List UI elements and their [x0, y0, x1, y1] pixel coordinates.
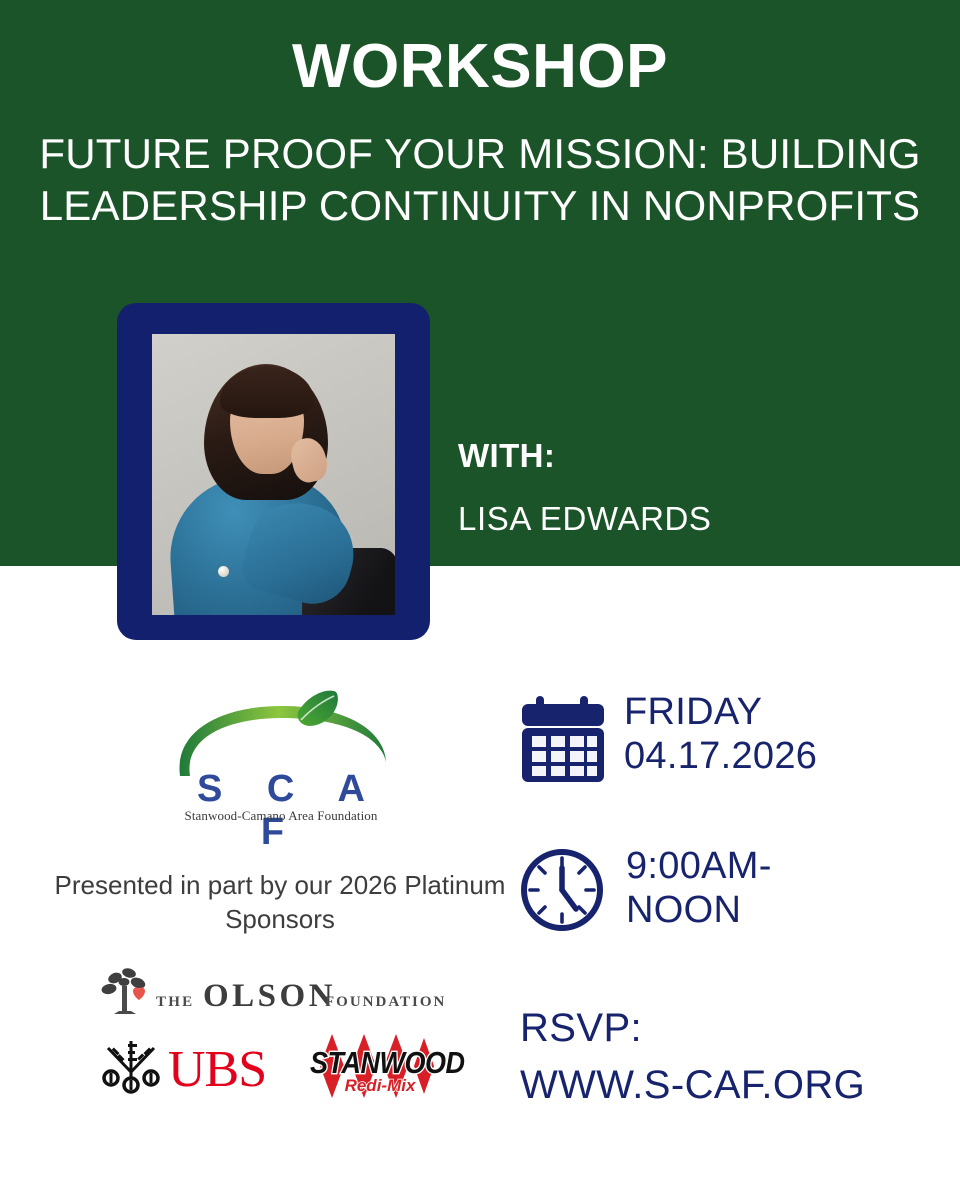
- speaker-photo: [152, 334, 395, 615]
- olson-the: THE: [156, 994, 194, 1011]
- event-poster: WORKSHOP FUTURE PROOF YOUR MISSION: BUIL…: [0, 0, 960, 1200]
- photo-brooch: [218, 566, 229, 577]
- olson-foundation: FOUNDATION: [325, 994, 446, 1011]
- rsvp-block[interactable]: RSVP: WWW.S-CAF.ORG: [520, 1000, 865, 1114]
- scaf-logo: S C A F Stanwood-Camano Area Foundation: [170, 690, 392, 820]
- event-date-row: FRIDAY 04.17.2026: [520, 694, 817, 786]
- stanwood-redimix: Redi-Mix: [310, 1076, 450, 1096]
- event-date-text: FRIDAY 04.17.2026: [624, 690, 817, 779]
- tree-heart-icon: [100, 968, 152, 1018]
- page-title: WORKSHOP: [0, 33, 960, 101]
- sponsor-logo-ubs: UBS: [100, 1038, 280, 1100]
- with-label: WITH:: [458, 437, 555, 475]
- event-time-row: 9:00AM- NOON: [518, 846, 772, 934]
- event-time-text: 9:00AM- NOON: [626, 844, 772, 933]
- sponsor-logo-stanwood: STANWOOD Redi-Mix: [310, 1032, 450, 1104]
- speaker-photo-frame: [117, 303, 430, 640]
- ubs-wordmark: UBS: [168, 1040, 266, 1099]
- speaker-name: LISA EDWARDS: [458, 500, 712, 538]
- three-keys-icon: [100, 1038, 162, 1096]
- sponsor-caption: Presented in part by our 2026 Platinum S…: [40, 868, 520, 937]
- workshop-subtitle: FUTURE PROOF YOUR MISSION: BUILDING LEAD…: [30, 128, 930, 231]
- calendar-icon: [520, 694, 606, 786]
- scaf-tagline: Stanwood-Camano Area Foundation: [170, 808, 392, 824]
- clock-icon: [518, 846, 606, 934]
- olson-main: OLSON: [203, 978, 336, 1015]
- sponsor-logo-olson: THE OLSON FOUNDATION: [100, 968, 450, 1020]
